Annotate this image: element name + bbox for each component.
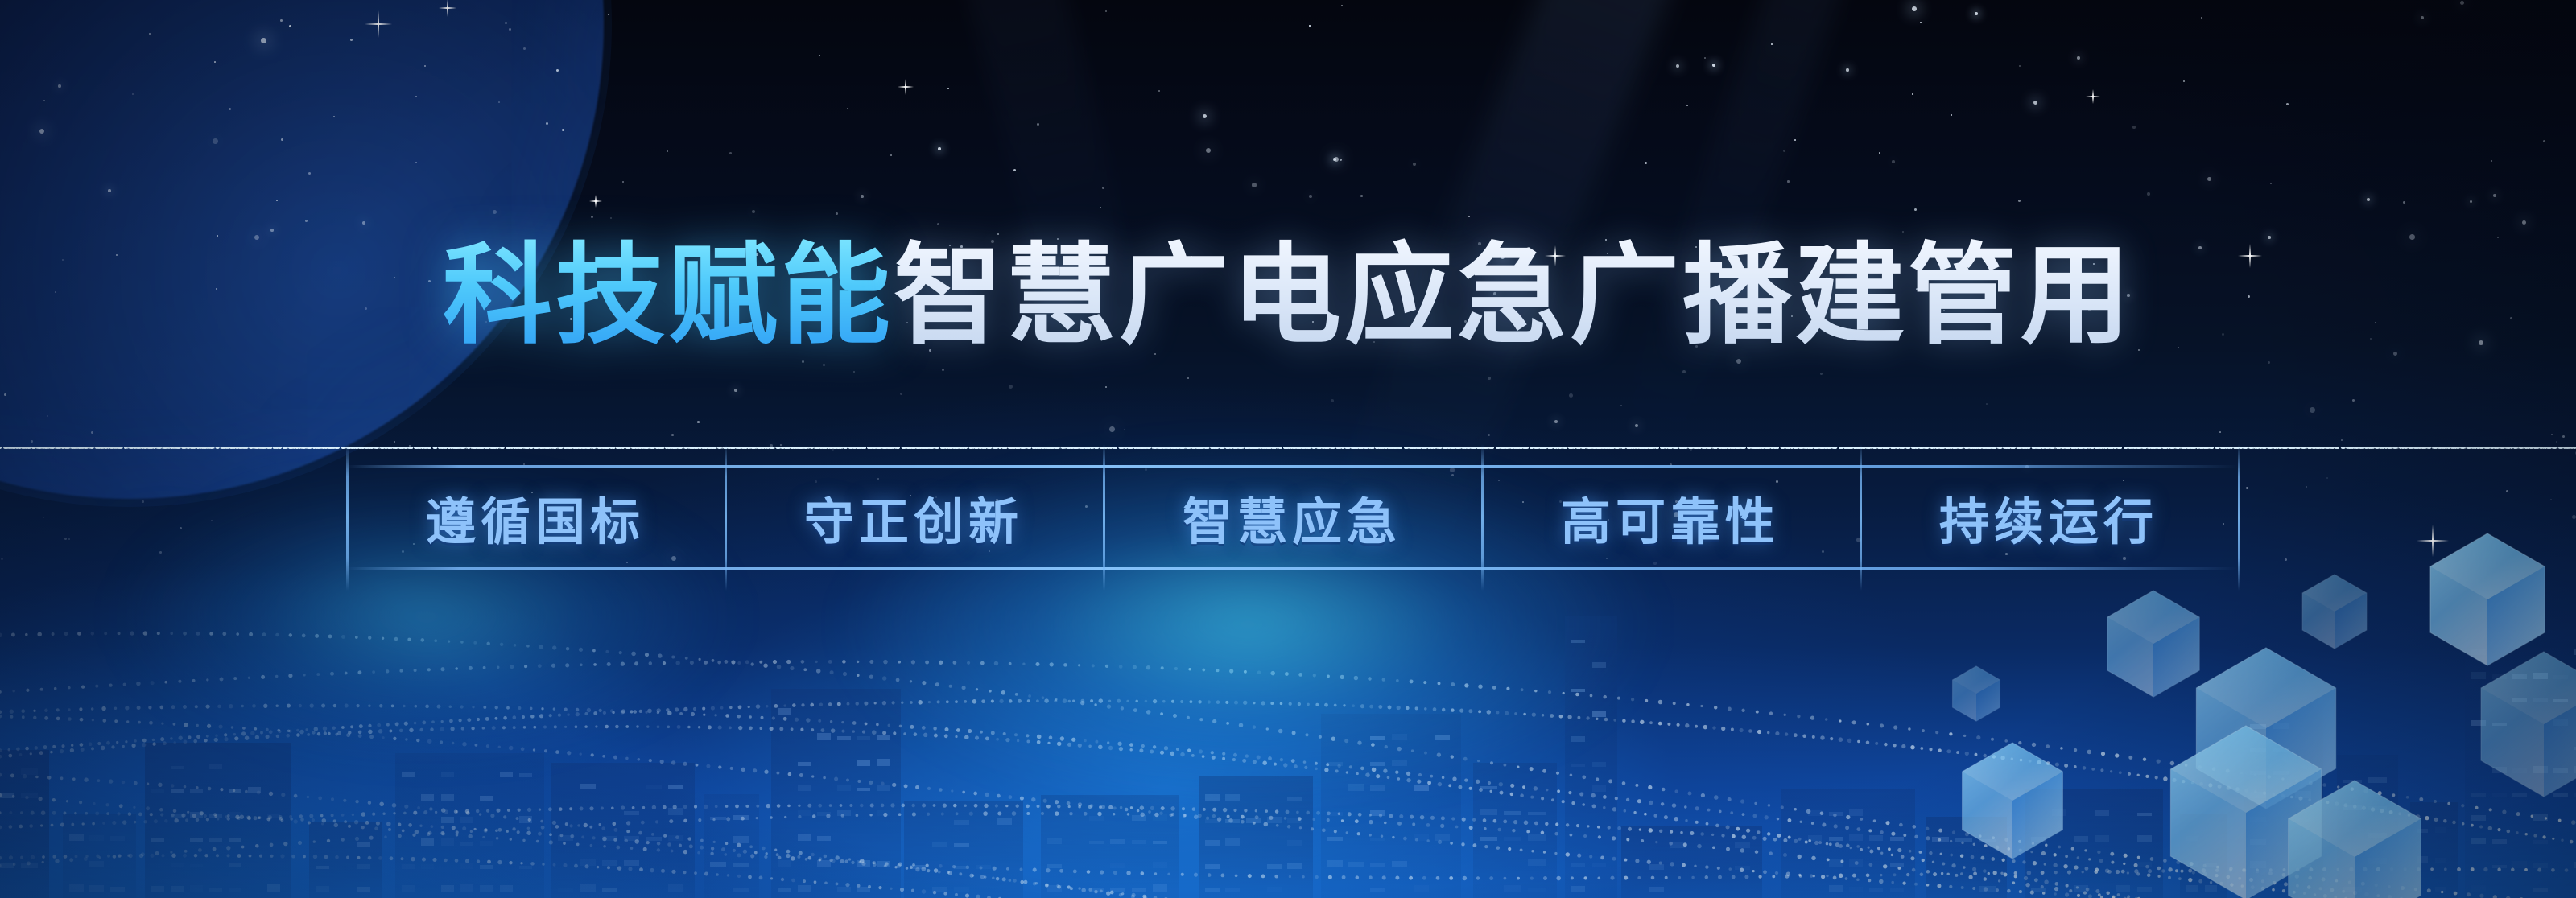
headline-container: 科技赋能智慧广电应急广播建管用 xyxy=(0,241,2576,351)
feature-item-1[interactable]: 守正创新 xyxy=(724,481,1103,554)
feature-item-3[interactable]: 高可靠性 xyxy=(1481,481,1860,554)
feature-divider xyxy=(2238,444,2240,591)
feature-item-2[interactable]: 智慧应急 xyxy=(1103,481,1481,554)
feature-list: 遵循国标 守正创新 智慧应急 高可靠性 持续运行 xyxy=(346,465,2238,570)
headline-accent-text: 科技赋能 xyxy=(443,233,894,360)
feature-item-0[interactable]: 遵循国标 xyxy=(346,481,724,554)
feature-item-4[interactable]: 持续运行 xyxy=(1860,481,2238,554)
feature-bar: 遵循国标 守正创新 智慧应急 高可靠性 持续运行 xyxy=(0,465,2576,570)
tech-banner: 科技赋能智慧广电应急广播建管用 遵循国标 守正创新 智慧应急 高可靠性 持续运行 xyxy=(0,0,2576,898)
light-ray-icon xyxy=(935,0,1177,460)
page-title: 科技赋能智慧广电应急广播建管用 xyxy=(443,241,2133,351)
headline-plain-text: 智慧广电应急广播建管用 xyxy=(894,233,2133,360)
